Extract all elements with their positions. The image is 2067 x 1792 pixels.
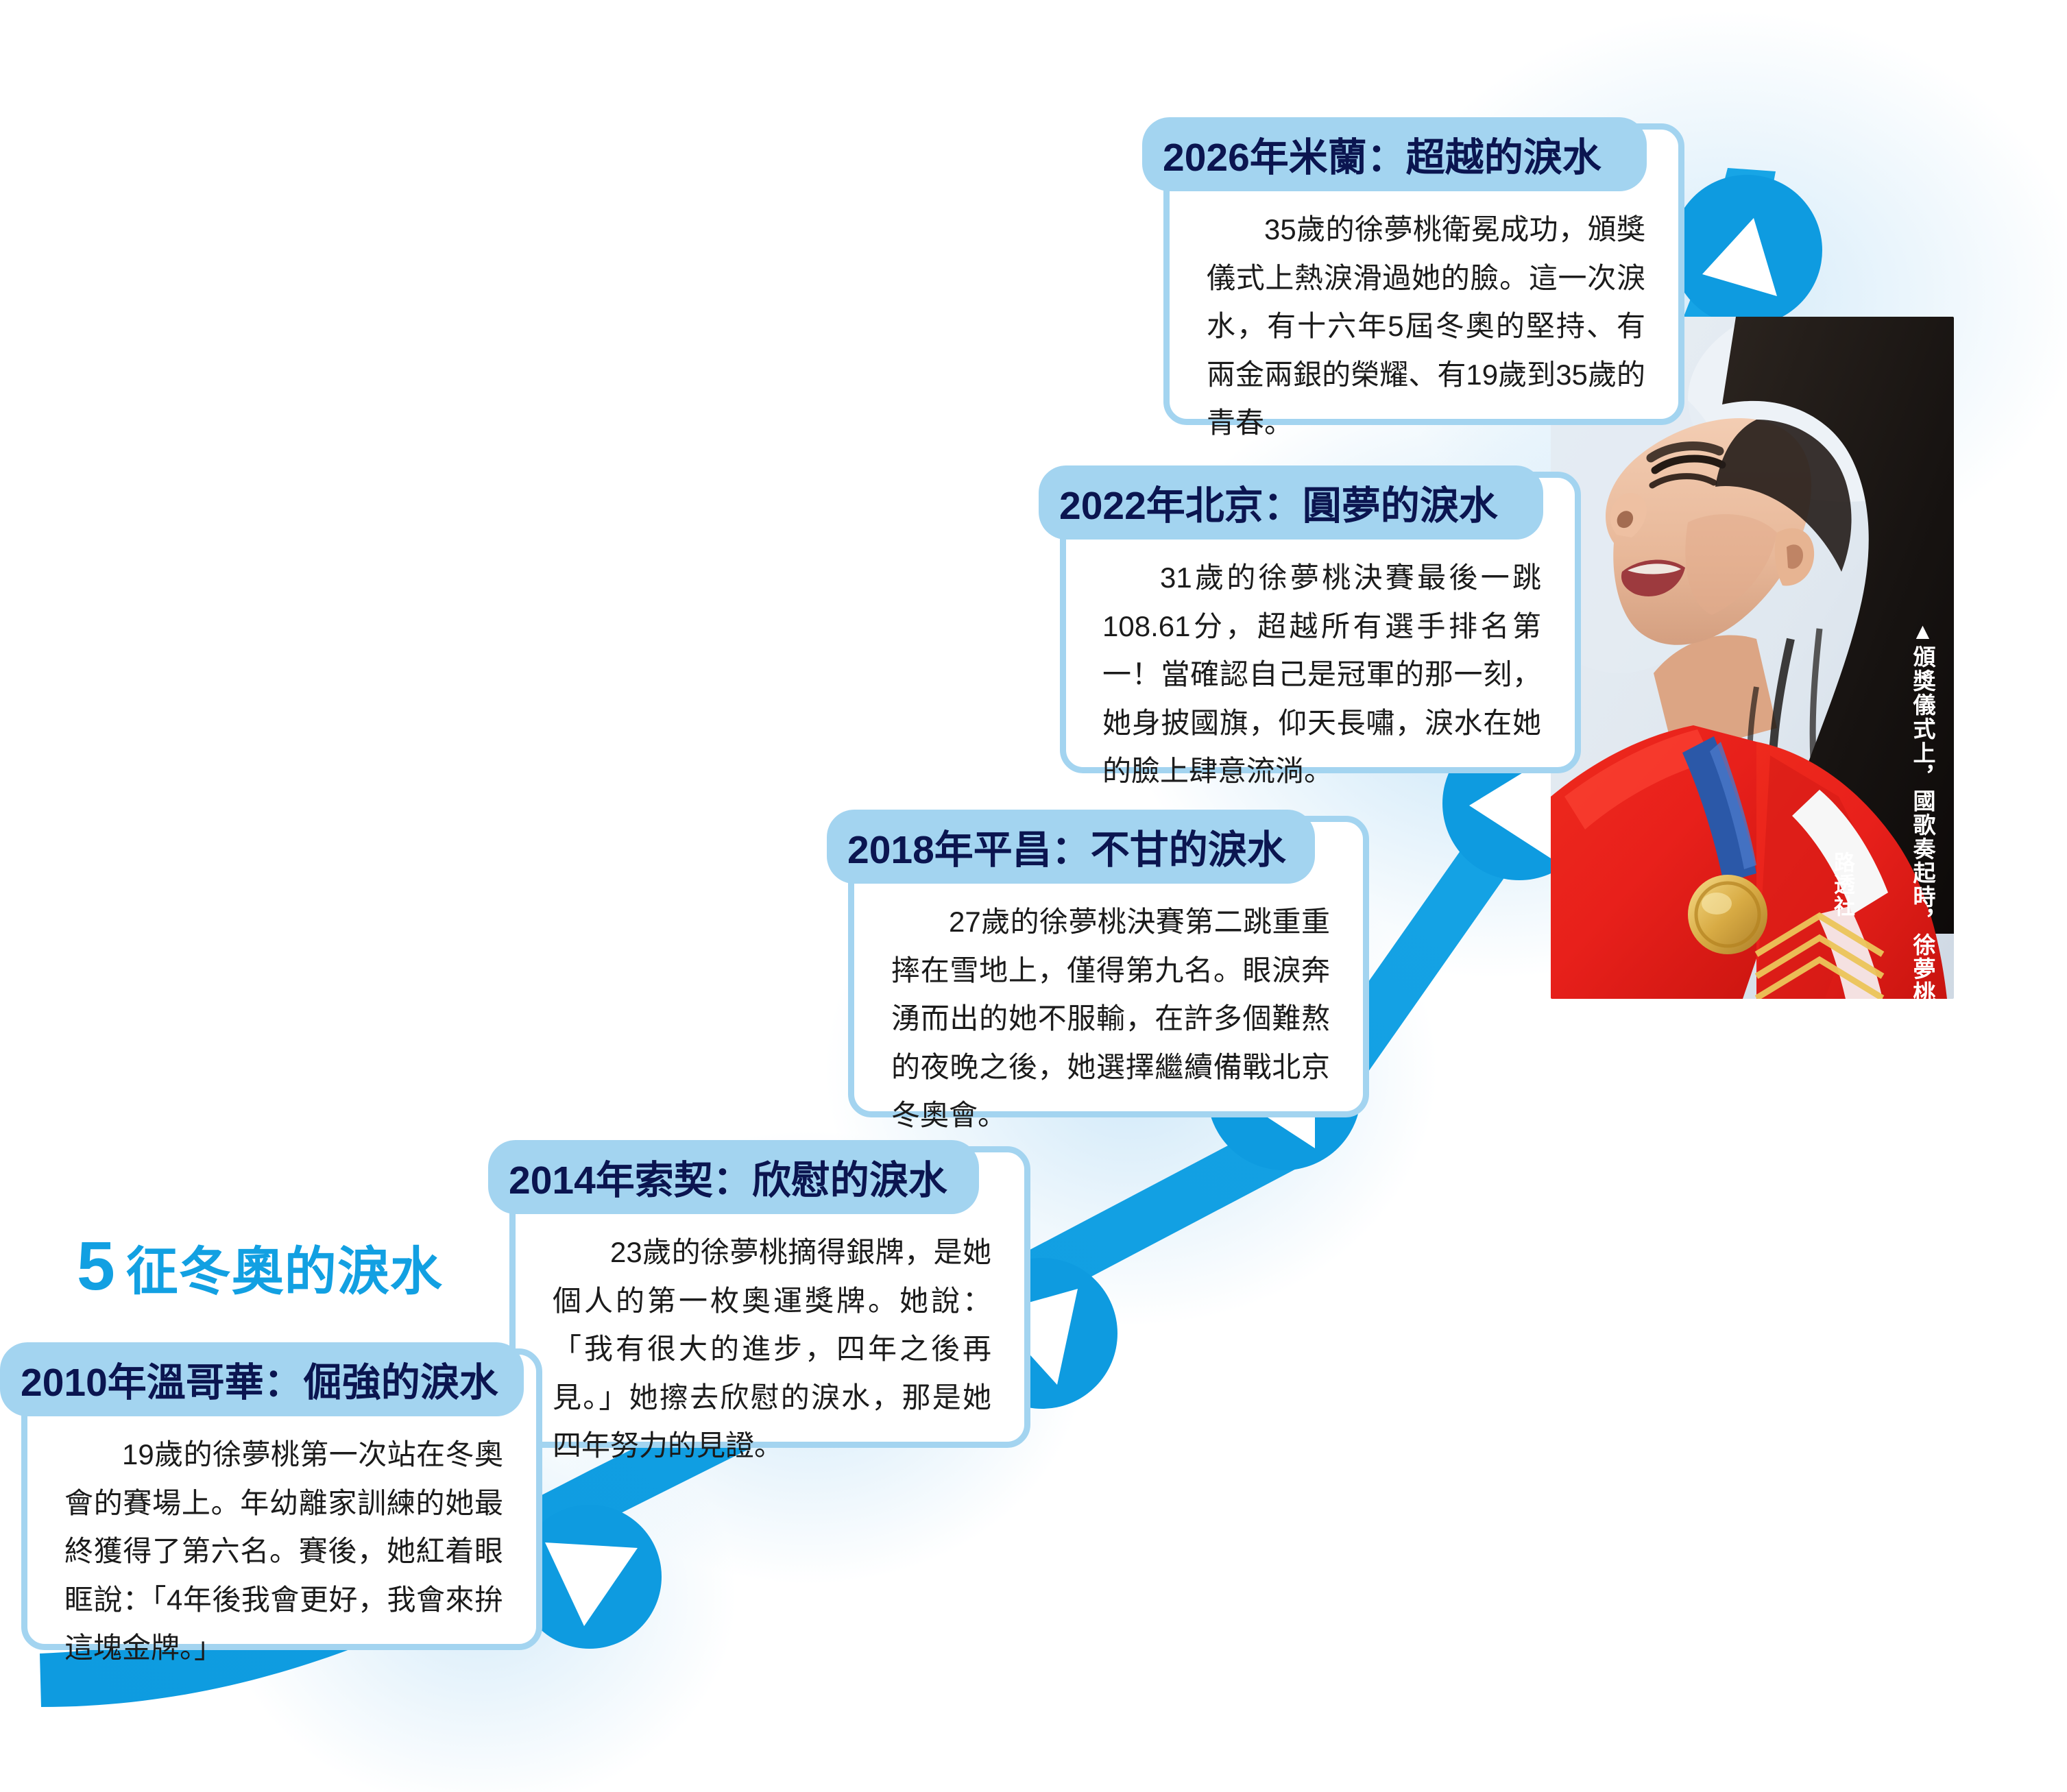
card-body-2010: 19歲的徐夢桃第一次站在冬奧會的賽場上。年幼離家訓練的她最終獲得了第六名。賽後，… (64, 1431, 503, 1673)
timeline-card-header-2018[interactable]: 2018年平昌：不甘的淚水 (827, 810, 1315, 884)
card-title-2018: 2018年平昌：不甘的淚水 (847, 819, 1286, 875)
node-marker-2026 (1671, 175, 1822, 326)
card-title-2026: 2026年米蘭：超越的淚水 (1163, 126, 1601, 182)
card-title-2014: 2014年索契：欣慰的淚水 (509, 1149, 947, 1205)
card-title-2010: 2010年溫哥華：倔強的淚水 (21, 1351, 498, 1407)
timeline-card-header-2014[interactable]: 2014年索契：欣慰的淚水 (488, 1140, 979, 1214)
page-title: 5征冬奧的淚水 (77, 1227, 443, 1306)
photo-credit: 路透社 (1827, 851, 1858, 917)
card-body-2026: 35歲的徐夢桃衛冕成功，頒獎儀式上熱淚滑過她的臉。這一次淚水，有十六年5屆冬奧的… (1207, 206, 1645, 448)
card-body-2018: 27歲的徐夢桃決賽第二跳重重摔在雪地上，僅得第九名。眼淚奔湧而出的她不服輸，在許… (891, 898, 1330, 1140)
timeline-card-header-2010[interactable]: 2010年溫哥華：倔強的淚水 (0, 1342, 524, 1416)
card-title-2022: 2022年北京：圓夢的淚水 (1059, 474, 1498, 531)
timeline-card-header-2026[interactable]: 2026年米蘭：超越的淚水 (1142, 117, 1647, 191)
caption-marker: ▲ (1910, 618, 1935, 645)
timeline-card-header-2022[interactable]: 2022年北京：圓夢的淚水 (1039, 465, 1543, 540)
photo-caption: ▲頒獎儀式上，國歌奏起時，徐夢桃淚流滿面。 (1909, 618, 1936, 999)
infographic-root: ▲頒獎儀式上，國歌奏起時，徐夢桃淚流滿面。 路透社 2026年米蘭：超越的淚水 … (0, 0, 2067, 1792)
caption-text: 頒獎儀式上，國歌奏起時，徐夢桃淚流滿面。 (1910, 645, 1935, 999)
page-title-number: 5 (77, 1228, 117, 1305)
page-title-text: 征冬奧的淚水 (126, 1243, 443, 1301)
card-body-2022: 31歲的徐夢桃決賽最後一跳108.61分，超越所有選手排名第一！當確認自己是冠軍… (1102, 554, 1541, 796)
card-body-2014: 23歲的徐夢桃摘得銀牌，是她個人的第一枚奧運獎牌。她說：「我有很大的進步，四年之… (553, 1228, 991, 1470)
